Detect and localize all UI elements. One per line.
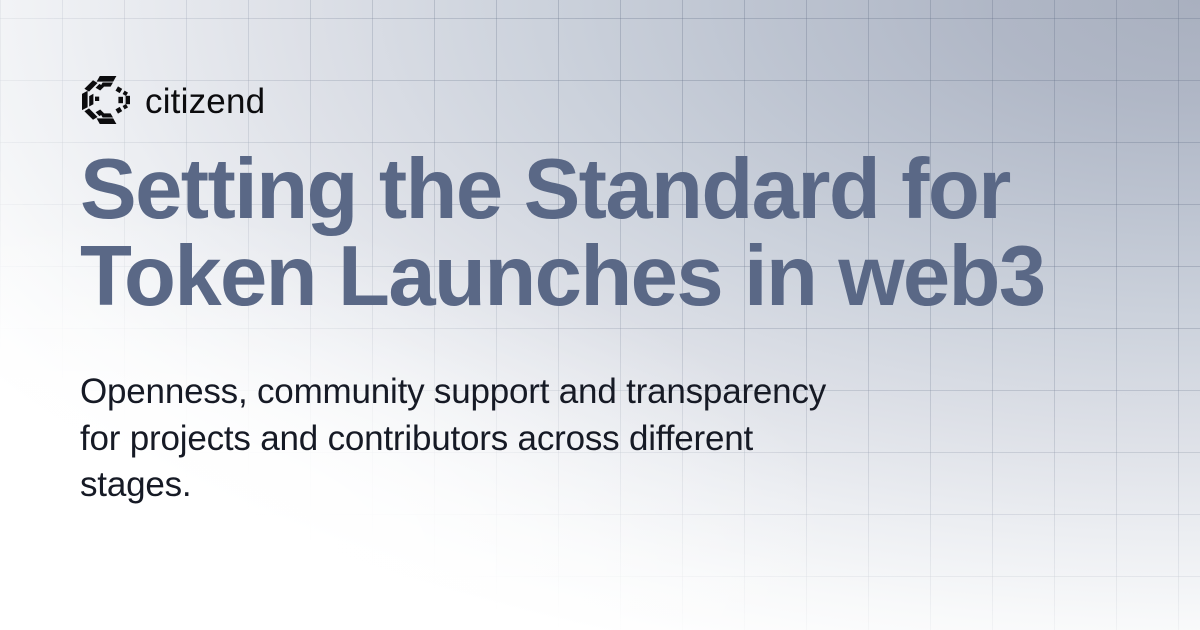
brand-wordmark: citizend — [145, 84, 265, 119]
citizend-dashed-ring-c-icon — [80, 74, 132, 126]
page-subtitle: Openness, community support and transpar… — [80, 369, 840, 508]
brand-lockup: citizend — [80, 74, 1140, 126]
og-card: citizend Setting the Standard for Token … — [0, 0, 1200, 630]
page-title: Setting the Standard for Token Launches … — [80, 147, 1090, 320]
hero-content: citizend Setting the Standard for Token … — [80, 74, 1140, 508]
